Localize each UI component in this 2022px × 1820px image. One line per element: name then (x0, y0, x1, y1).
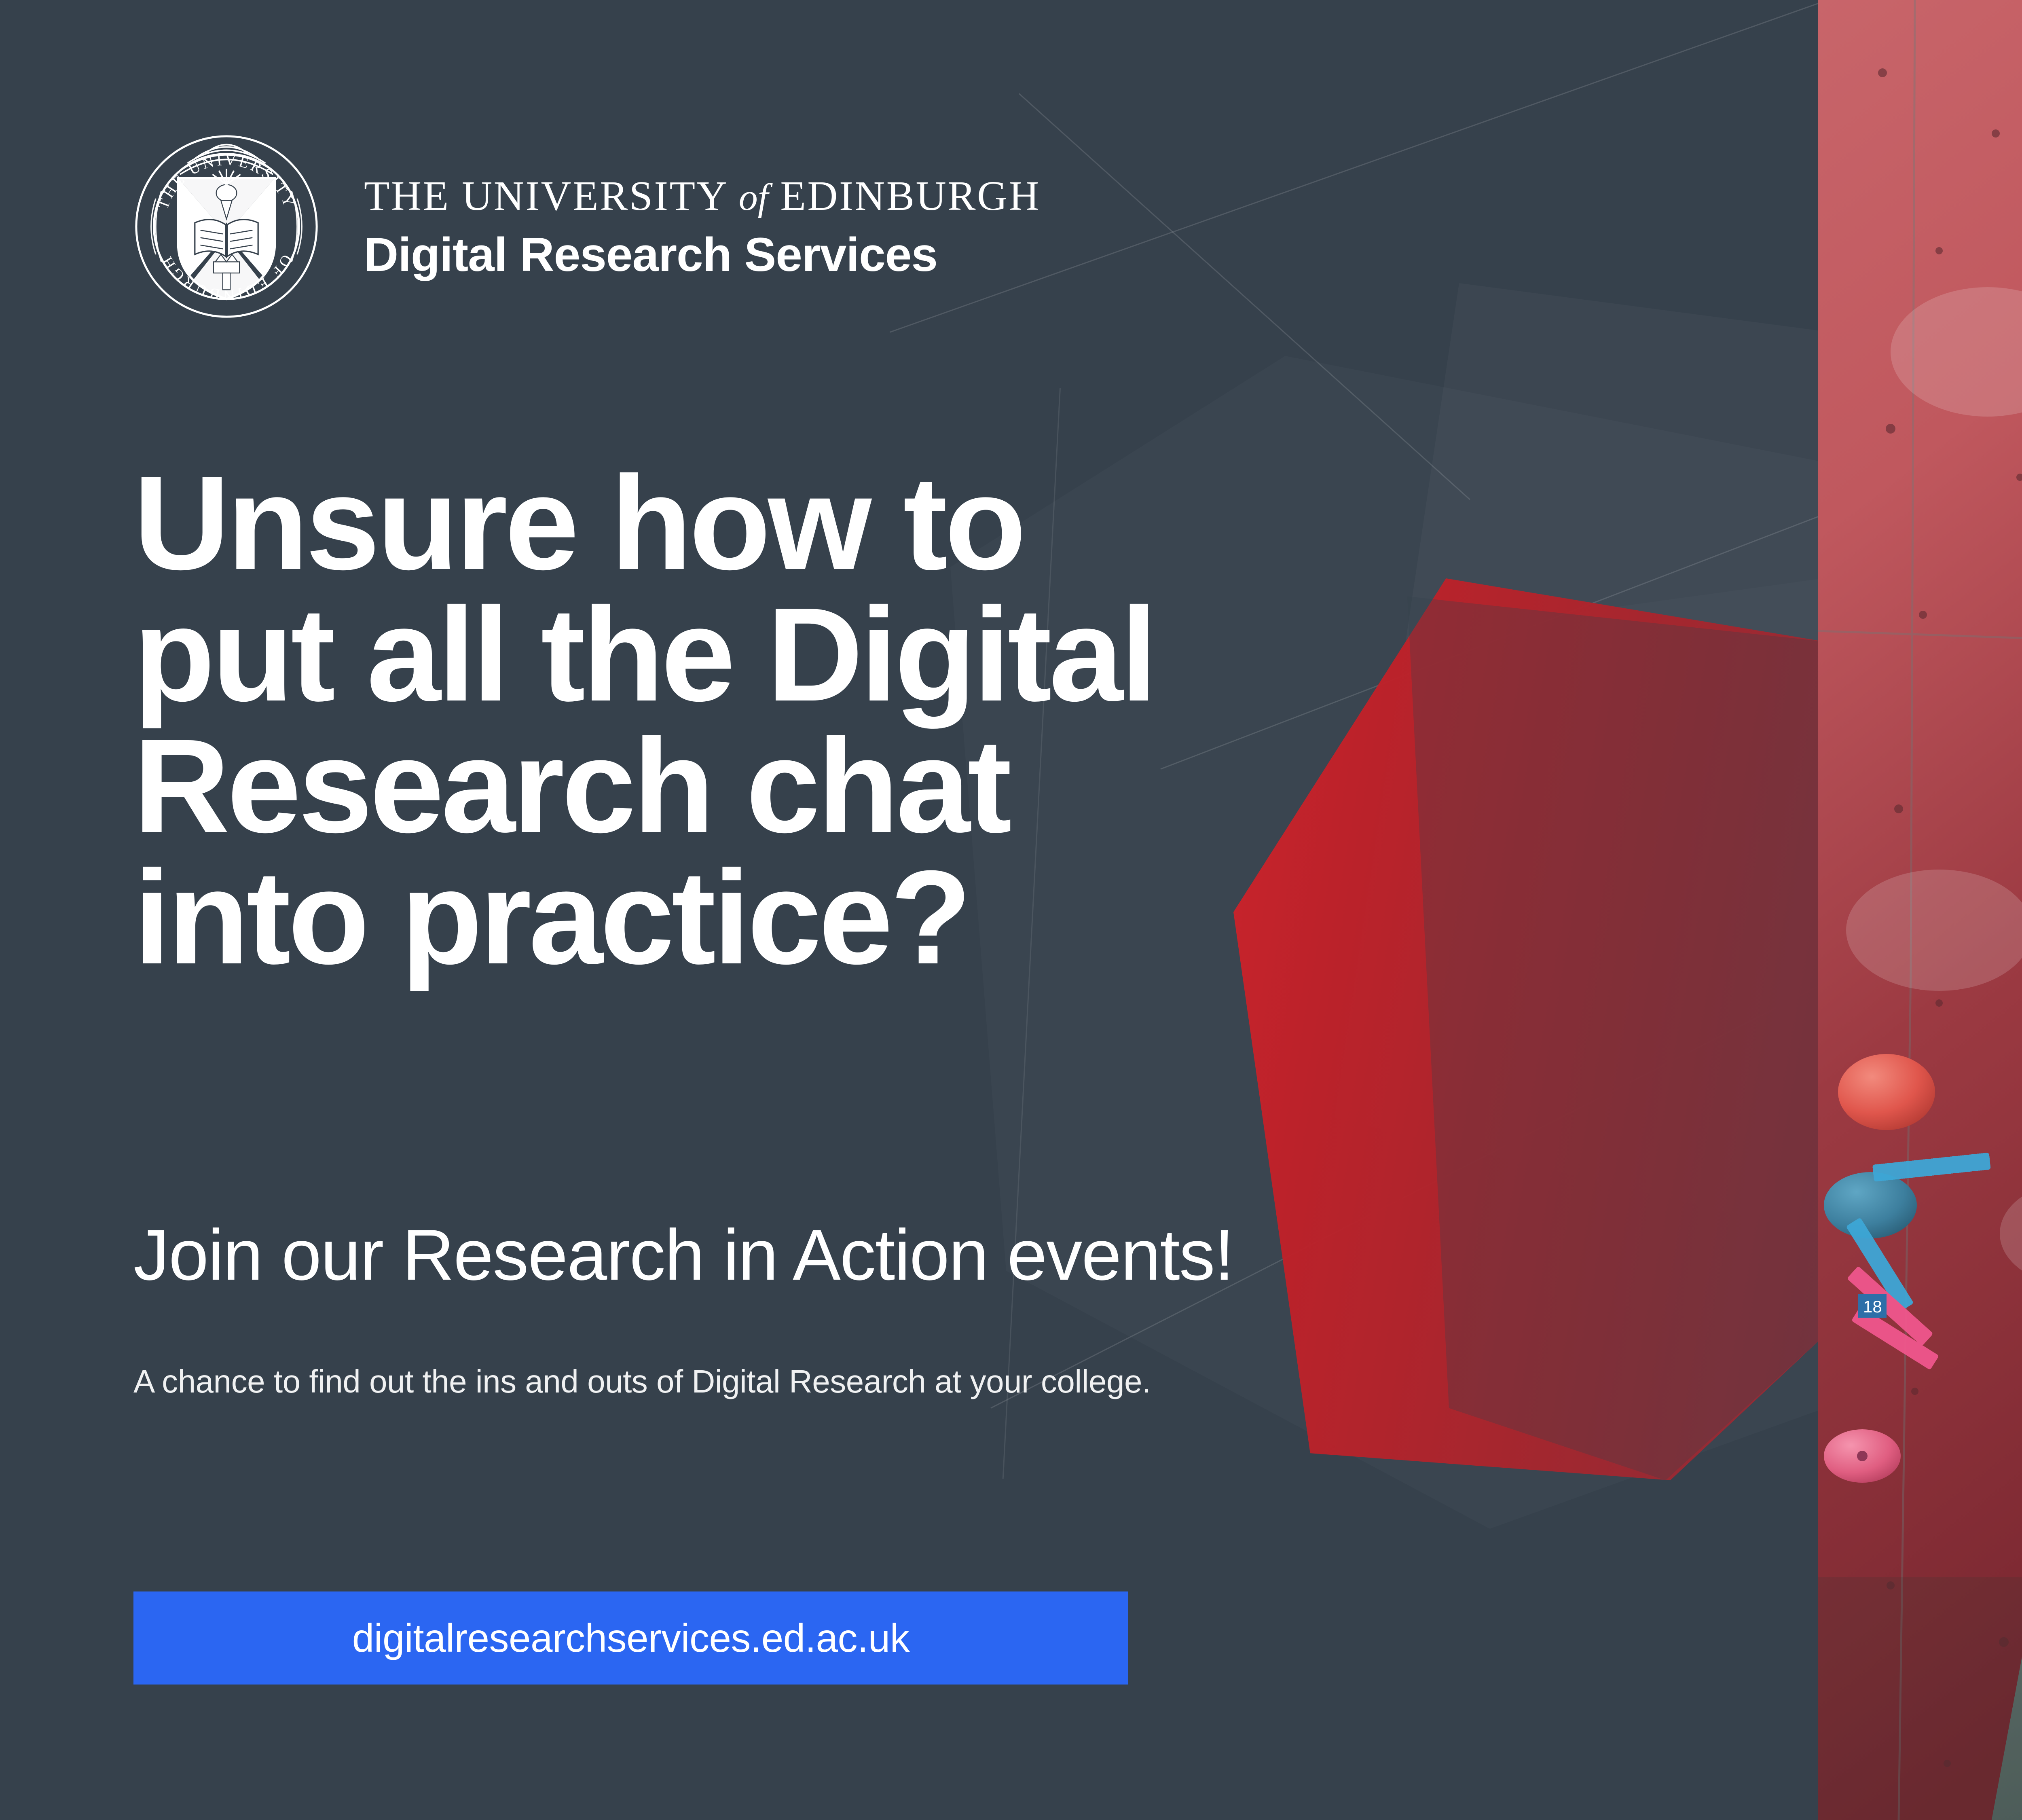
website-url-label: digitalresearchservices.ed.ac.uk (352, 1615, 909, 1661)
edinburgh-university-crest-icon: THE UNIVERSITY OF EDINBURGH (133, 133, 319, 320)
body-text: A chance to find out the ins and outs of… (133, 1363, 1151, 1400)
red-accent-shape-overlay (1407, 578, 1818, 1480)
university-name-of: of (739, 176, 768, 218)
university-name-part2: EDINBURGH (780, 173, 1041, 219)
university-logo-lockup: THE UNIVERSITY OF EDINBURGH (133, 133, 1041, 320)
headline-line-3: Research chat (133, 720, 1155, 851)
unit-name: Digital Research Services (364, 229, 1041, 281)
background-diagonal-line-4 (1019, 93, 1470, 500)
headline-line-4: into practice? (133, 851, 1155, 983)
website-url-button[interactable]: digitalresearchservices.ed.ac.uk (133, 1591, 1128, 1685)
wordmark: THE UNIVERSITY of EDINBURGH Digital Rese… (364, 172, 1041, 281)
promotional-poster: 12 18 15 19 19 (0, 0, 2022, 1820)
page-title: Unsure how to put all the Digital Resear… (133, 457, 1155, 983)
climbing-wall-illustration: 12 18 15 19 19 (1818, 0, 2022, 1820)
university-name-part1: THE UNIVERSITY (364, 173, 727, 219)
climbing-wall-photo: 12 18 15 19 19 (1818, 0, 2022, 1820)
headline-line-2: put all the Digital (133, 588, 1155, 720)
subheading: Join our Research in Action events! (133, 1213, 1233, 1296)
university-name: THE UNIVERSITY of EDINBURGH (364, 172, 1041, 220)
headline-line-1: Unsure how to (133, 457, 1155, 588)
